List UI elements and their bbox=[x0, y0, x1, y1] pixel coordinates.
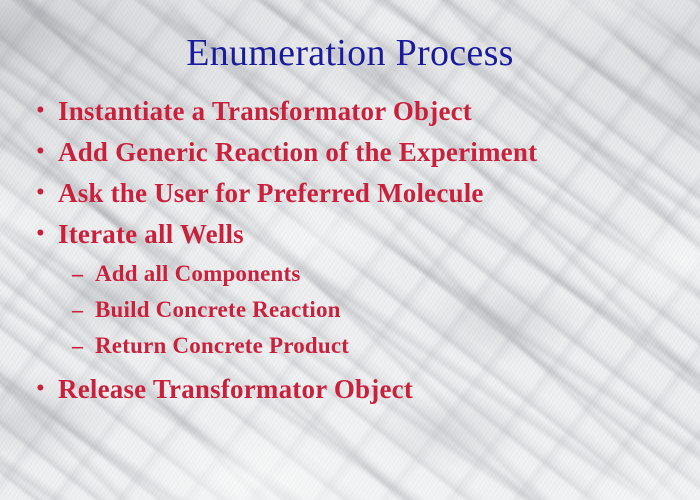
bullet-dot-icon: • bbox=[36, 180, 58, 205]
bullet-dash-icon: – bbox=[72, 335, 95, 357]
bullet-item-level-1: •Iterate all Wells bbox=[0, 221, 700, 262]
bullet-item-level-1: •Instantiate a Transformator Object bbox=[0, 98, 700, 139]
bullet-item-label: Add all Components bbox=[95, 262, 301, 285]
slide-content: Enumeration Process •Instantiate a Trans… bbox=[0, 0, 700, 500]
bullet-item-level-1: •Ask the User for Preferred Molecule bbox=[0, 180, 700, 221]
bullet-item-level-2: –Add all Components bbox=[0, 262, 700, 298]
bullet-item-level-2: –Return Concrete Product bbox=[0, 334, 700, 370]
bullet-dash-icon: – bbox=[72, 299, 95, 321]
bullet-dash-icon: – bbox=[72, 263, 95, 285]
bullet-item-level-2: –Build Concrete Reaction bbox=[0, 298, 700, 334]
page-title: Enumeration Process bbox=[0, 34, 700, 72]
bullet-item-level-1: •Add Generic Reaction of the Experiment bbox=[0, 139, 700, 180]
bullet-item-label: Build Concrete Reaction bbox=[95, 298, 341, 321]
bullet-dot-icon: • bbox=[36, 98, 58, 123]
bullet-dot-icon: • bbox=[36, 376, 58, 401]
presentation-slide: Enumeration Process •Instantiate a Trans… bbox=[0, 0, 700, 500]
bullet-item-label: Return Concrete Product bbox=[95, 334, 349, 357]
bullet-dot-icon: • bbox=[36, 139, 58, 164]
bullet-item-label: Add Generic Reaction of the Experiment bbox=[58, 139, 537, 166]
bullet-item-label: Instantiate a Transformator Object bbox=[58, 98, 472, 125]
bullet-item-level-1: •Release Transformator Object bbox=[0, 376, 700, 417]
bullet-item-label: Iterate all Wells bbox=[58, 221, 244, 248]
bullet-dot-icon: • bbox=[36, 221, 58, 246]
bullet-list: •Instantiate a Transformator Object•Add … bbox=[0, 98, 700, 417]
bullet-item-label: Ask the User for Preferred Molecule bbox=[58, 180, 484, 207]
bullet-item-label: Release Transformator Object bbox=[58, 376, 413, 403]
